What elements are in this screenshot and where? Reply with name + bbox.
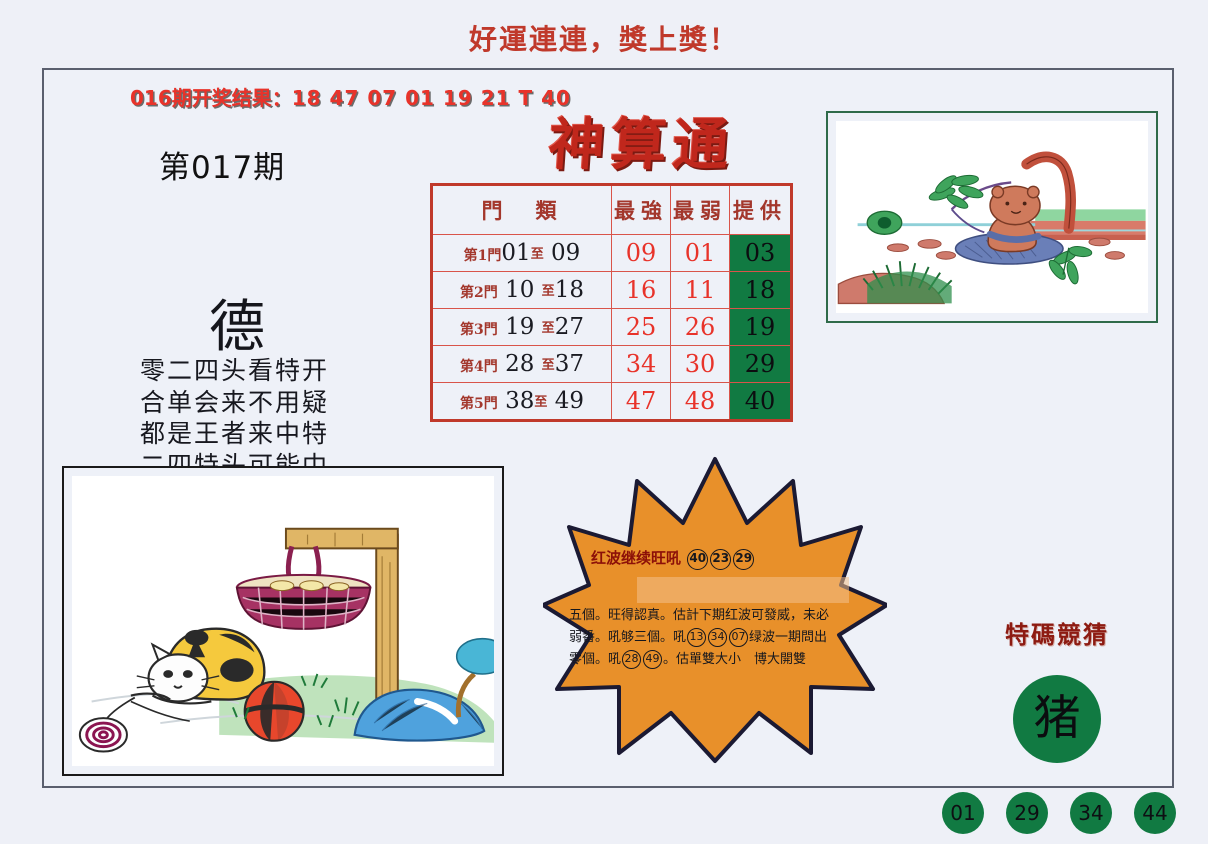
zodiac-badge: 猪 bbox=[1013, 675, 1101, 763]
cell-weakest: 01 bbox=[671, 235, 730, 272]
number-ball: 34 bbox=[1070, 792, 1112, 834]
number-ball: 29 bbox=[1006, 792, 1048, 834]
gate-name: 第3門 bbox=[460, 322, 498, 338]
draw-result-label: 016期开奖结果： bbox=[130, 86, 292, 110]
gate-table-wrapper: 門 類 最強 最弱 提供 第1門01至 09 09 01 03 第2門 10 至… bbox=[430, 183, 793, 422]
line2-part-a: 弱番。吼够三個。吼 bbox=[569, 630, 686, 645]
line2-number: 13 bbox=[687, 628, 706, 647]
bear-in-water-icon bbox=[836, 121, 1148, 313]
table-row: 第3門 19 至27 25 26 19 bbox=[432, 309, 792, 346]
gate-name: 第5門 bbox=[460, 396, 498, 412]
illustration-top-right-canvas bbox=[836, 121, 1148, 313]
range-sep: 至 bbox=[542, 321, 555, 336]
range-from: 01 bbox=[501, 240, 530, 266]
line2-number: 34 bbox=[708, 628, 727, 647]
brand-logo: 神算通 bbox=[546, 100, 738, 181]
cell-gate-range: 第3門 19 至27 bbox=[432, 309, 612, 346]
verse-block: 零二四头看特开 合单会来不用疑 都是王者来中特 二四特头可能中 bbox=[140, 355, 329, 481]
verse-line: 合单会来不用疑 bbox=[140, 387, 329, 419]
main-frame: 016期开奖结果：18 47 07 01 19 21 T 40 第017期 神算… bbox=[42, 68, 1174, 788]
range-sep: 至 bbox=[542, 284, 555, 299]
cell-weakest: 11 bbox=[671, 272, 730, 309]
range-from: 28 bbox=[505, 351, 534, 377]
illustration-top-right bbox=[826, 111, 1158, 323]
range-sep: 至 bbox=[534, 395, 547, 410]
range-from: 19 bbox=[505, 314, 534, 340]
cell-offer: 19 bbox=[730, 309, 792, 346]
cell-gate-range: 第5門 38至 49 bbox=[432, 383, 612, 421]
starburst-block: 红波继续旺吼 402329 五個。旺得認真。估計下期红波可發威，未必 弱番。吼够… bbox=[543, 453, 887, 767]
table-row: 第5門 38至 49 47 48 40 bbox=[432, 383, 792, 421]
cell-strongest: 34 bbox=[612, 346, 671, 383]
illustration-bottom-left bbox=[62, 466, 504, 776]
draw-result-line: 016期开奖结果：18 47 07 01 19 21 T 40 bbox=[130, 82, 571, 111]
cat-with-yarn-icon bbox=[72, 476, 494, 766]
star-title-number: 23 bbox=[710, 549, 731, 570]
starburst-title: 红波继续旺吼 402329 bbox=[591, 547, 755, 570]
verse-line: 零二四头看特开 bbox=[140, 355, 329, 387]
special-code-guess-title: 特碼競猜 bbox=[942, 615, 1172, 650]
starburst-line-1: 五個。旺得認真。估計下期红波可發威，未必 bbox=[553, 605, 883, 627]
header-offer: 提供 bbox=[730, 185, 792, 235]
gate-name: 第2門 bbox=[460, 285, 498, 301]
draw-result-numbers: 18 47 07 01 19 21 T 40 bbox=[292, 86, 571, 110]
gate-table: 門 類 最強 最弱 提供 第1門01至 09 09 01 03 第2門 10 至… bbox=[430, 183, 793, 422]
number-ball-row: 01 29 34 44 bbox=[942, 792, 1176, 834]
cell-offer: 40 bbox=[730, 383, 792, 421]
line2-number: 07 bbox=[729, 628, 748, 647]
cell-gate-range: 第4門 28 至37 bbox=[432, 346, 612, 383]
number-ball: 01 bbox=[942, 792, 984, 834]
star-title-number: 40 bbox=[687, 549, 708, 570]
header-strongest: 最強 bbox=[612, 185, 671, 235]
cell-strongest: 25 bbox=[612, 309, 671, 346]
line2-part-b: 绿波一期問出 bbox=[749, 630, 827, 645]
line3-number: 49 bbox=[643, 650, 662, 669]
cell-offer: 29 bbox=[730, 346, 792, 383]
cell-gate-range: 第2門 10 至18 bbox=[432, 272, 612, 309]
range-from: 38 bbox=[505, 388, 534, 414]
starburst-line-3: 零個。吼2849。估單雙大小 博大開雙 bbox=[553, 649, 883, 671]
page-root: 好運連連，獎上獎！ 016期开奖结果：18 47 07 01 19 21 T 4… bbox=[0, 0, 1208, 844]
cell-weakest: 48 bbox=[671, 383, 730, 421]
line3-number: 28 bbox=[622, 650, 641, 669]
cell-strongest: 47 bbox=[612, 383, 671, 421]
cell-offer: 18 bbox=[730, 272, 792, 309]
big-character: 德 bbox=[209, 282, 265, 363]
range-to: 27 bbox=[555, 314, 584, 340]
range-sep: 至 bbox=[531, 247, 544, 262]
range-sep: 至 bbox=[542, 358, 555, 373]
starburst-body: 五個。旺得認真。估計下期红波可發威，未必 弱番。吼够三個。吼133407绿波一期… bbox=[553, 605, 883, 670]
range-from: 10 bbox=[505, 277, 534, 303]
cell-strongest: 09 bbox=[612, 235, 671, 272]
starburst-line-2: 弱番。吼够三個。吼133407绿波一期問出 bbox=[553, 627, 883, 649]
gate-name: 第4門 bbox=[460, 359, 498, 375]
verse-line: 都是王者来中特 bbox=[140, 418, 329, 450]
range-to: 49 bbox=[555, 388, 584, 414]
table-header-row: 門 類 最強 最弱 提供 bbox=[432, 185, 792, 235]
number-ball: 44 bbox=[1134, 792, 1176, 834]
cell-gate-range: 第1門01至 09 bbox=[432, 235, 612, 272]
table-row: 第2門 10 至18 16 11 18 bbox=[432, 272, 792, 309]
cell-weakest: 26 bbox=[671, 309, 730, 346]
table-row: 第4門 28 至37 34 30 29 bbox=[432, 346, 792, 383]
table-row: 第1門01至 09 09 01 03 bbox=[432, 235, 792, 272]
illustration-bottom-left-canvas bbox=[72, 476, 494, 766]
issue-number: 第017期 bbox=[159, 142, 285, 187]
range-to: 09 bbox=[551, 240, 580, 266]
page-slogan: 好運連連，獎上獎！ bbox=[0, 18, 1208, 58]
header-gate-type: 門 類 bbox=[432, 185, 612, 235]
starburst-title-text: 红波继续旺吼 bbox=[591, 549, 681, 567]
line3-part-b: 。估單雙大小 博大開雙 bbox=[663, 652, 806, 667]
cell-strongest: 16 bbox=[612, 272, 671, 309]
line3-part-a: 零個。吼 bbox=[569, 652, 621, 667]
range-to: 18 bbox=[555, 277, 584, 303]
range-to: 37 bbox=[555, 351, 584, 377]
cell-offer: 03 bbox=[730, 235, 792, 272]
gate-name: 第1門 bbox=[464, 248, 502, 264]
star-title-number: 29 bbox=[733, 549, 754, 570]
cell-weakest: 30 bbox=[671, 346, 730, 383]
header-weakest: 最弱 bbox=[671, 185, 730, 235]
